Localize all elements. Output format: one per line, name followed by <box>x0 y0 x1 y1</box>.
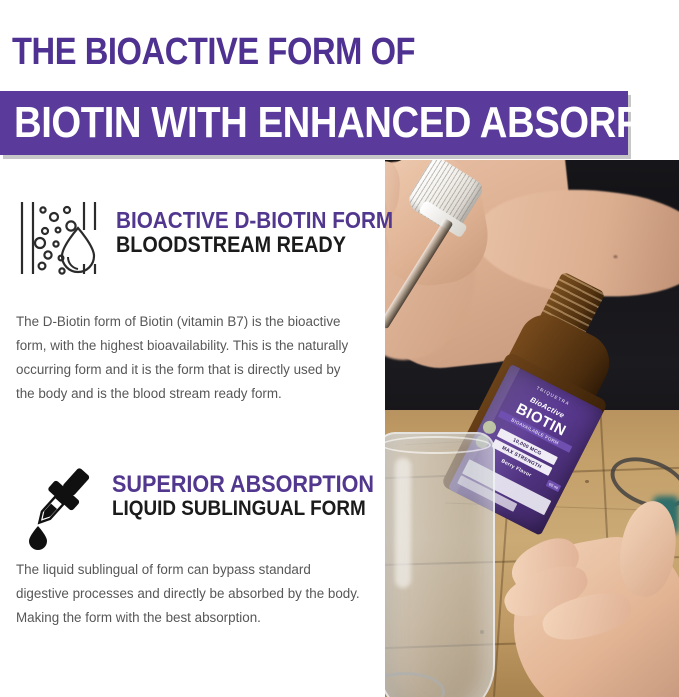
product-photo: TRIQUETRA BioActive BIOTIN BIOAVAILABLE … <box>385 160 679 697</box>
section-header: SUPERIOR ABSORPTION LIQUID SUBLINGUAL FO… <box>0 458 385 536</box>
section-titles: BIOACTIVE D-BIOTIN FORM BLOODSTREAM READ… <box>116 208 424 257</box>
section-body-text: The D-Biotin form of Biotin (vitamin B7)… <box>16 310 361 406</box>
section-title: SUPERIOR ABSORPTION <box>112 472 374 497</box>
dropper-pipette-icon <box>16 460 102 536</box>
section-bioactive-d-biotin: BIOACTIVE D-BIOTIN FORM BLOODSTREAM READ… <box>0 198 385 276</box>
glass-rim <box>385 436 491 454</box>
section-title: BIOACTIVE D-BIOTIN FORM <box>116 208 393 233</box>
skin-mark <box>613 255 617 258</box>
section-header: BIOACTIVE D-BIOTIN FORM BLOODSTREAM READ… <box>0 198 385 276</box>
water-droplet-bloodstream-icon <box>16 200 102 276</box>
wood-speck <box>585 480 589 483</box>
section-subtitle: LIQUID SUBLINGUAL FORM <box>112 497 374 521</box>
section-titles: SUPERIOR ABSORPTION LIQUID SUBLINGUAL FO… <box>112 472 403 521</box>
infographic-page: TRIQUETRA BioActive BIOTIN BIOAVAILABLE … <box>0 0 679 697</box>
headline-line-2: BIOTIN WITH ENHANCED ABSORPTION <box>14 100 679 146</box>
section-body-text: The liquid sublingual of form can bypass… <box>16 558 361 630</box>
section-superior-absorption: SUPERIOR ABSORPTION LIQUID SUBLINGUAL FO… <box>0 458 385 536</box>
headline-line-1: THE BIOACTIVE FORM OF <box>12 33 415 71</box>
lower-hand <box>500 526 679 697</box>
section-subtitle: BLOODSTREAM READY <box>116 233 393 257</box>
